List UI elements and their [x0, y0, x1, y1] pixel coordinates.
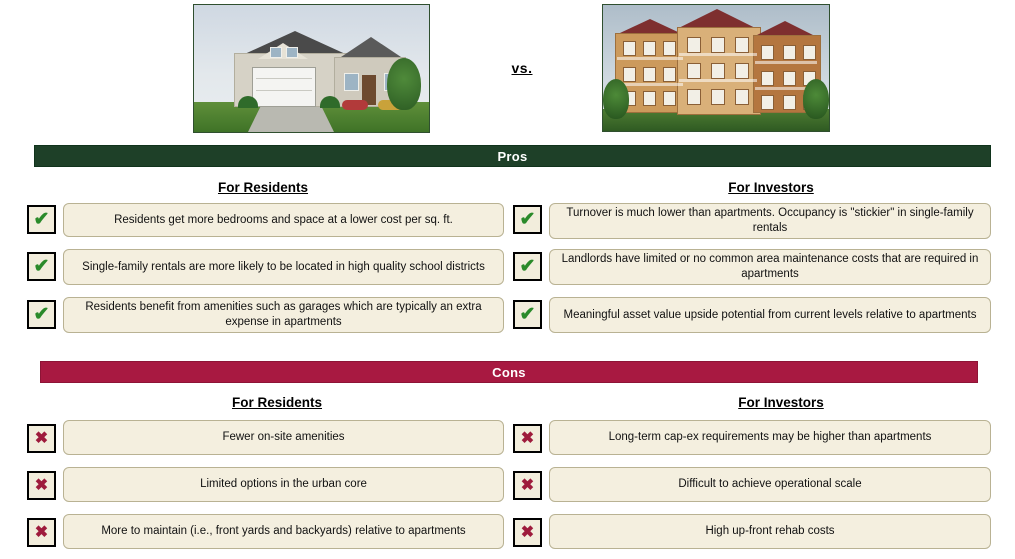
- window-icon: [344, 73, 359, 91]
- pros-residents-item: Residents benefit from amenities such as…: [63, 297, 504, 333]
- pros-investors-heading: For Investors: [668, 180, 874, 195]
- window-icon: [711, 63, 725, 79]
- check-icon: ✔: [513, 205, 542, 234]
- window-icon: [623, 41, 636, 56]
- balcony-rail: [755, 61, 817, 64]
- window-icon: [761, 45, 774, 60]
- cons-investors-item: High up-front rehab costs: [549, 514, 991, 549]
- pros-banner: Pros: [34, 145, 991, 167]
- balcony-rail: [617, 83, 683, 86]
- flower-bed: [342, 100, 368, 110]
- versus-label: vs.: [497, 60, 547, 76]
- cons-investors-heading: For Investors: [678, 395, 884, 410]
- cons-residents-item-text: More to maintain (i.e., front yards and …: [72, 524, 495, 539]
- window-icon: [761, 71, 774, 86]
- pros-residents-item: Residents get more bedrooms and space at…: [63, 203, 504, 237]
- pros-residents-item-text: Residents get more bedrooms and space at…: [72, 213, 495, 228]
- cross-icon: ✖: [513, 424, 542, 453]
- window-icon: [663, 91, 676, 106]
- cons-investors-item-text: Difficult to achieve operational scale: [558, 477, 982, 492]
- window-icon: [783, 95, 796, 110]
- tree: [803, 79, 829, 119]
- driveway: [248, 104, 334, 132]
- window-icon: [687, 89, 701, 105]
- cons-residents-item-text: Fewer on-site amenities: [72, 430, 495, 445]
- pros-investors-item-text: Landlords have limited or no common area…: [558, 252, 982, 282]
- cross-icon: ✖: [27, 424, 56, 453]
- balcony-rail: [679, 53, 757, 56]
- cross-icon: ✖: [27, 518, 56, 547]
- pros-residents-item: Single-family rentals are more likely to…: [63, 249, 504, 285]
- cross-icon: ✖: [27, 471, 56, 500]
- pros-investors-item-text: Meaningful asset value upside potential …: [558, 308, 982, 323]
- cross-icon: ✖: [513, 471, 542, 500]
- pros-investors-item: Meaningful asset value upside potential …: [549, 297, 991, 333]
- comparison-image-row: vs.: [0, 0, 1015, 136]
- window-icon: [643, 67, 656, 82]
- garage-door: [252, 67, 316, 107]
- window-icon: [286, 47, 298, 58]
- cons-residents-item: More to maintain (i.e., front yards and …: [63, 514, 504, 549]
- window-icon: [643, 91, 656, 106]
- cons-investors-item-text: High up-front rehab costs: [558, 524, 982, 539]
- pros-investors-item-text: Turnover is much lower than apartments. …: [558, 206, 982, 236]
- pros-investors-item: Turnover is much lower than apartments. …: [549, 203, 991, 239]
- pros-residents-item-text: Single-family rentals are more likely to…: [72, 260, 495, 275]
- cons-banner: Cons: [40, 361, 978, 383]
- cons-residents-item: Fewer on-site amenities: [63, 420, 504, 455]
- pros-residents-heading: For Residents: [160, 180, 366, 195]
- window-icon: [783, 71, 796, 86]
- window-icon: [735, 63, 749, 79]
- window-icon: [663, 41, 676, 56]
- cons-investors-item: Long-term cap-ex requirements may be hig…: [549, 420, 991, 455]
- cons-investors-item: Difficult to achieve operational scale: [549, 467, 991, 502]
- balcony-rail: [617, 57, 683, 60]
- window-icon: [643, 41, 656, 56]
- check-icon: ✔: [513, 252, 542, 281]
- cross-icon: ✖: [513, 518, 542, 547]
- window-icon: [761, 95, 774, 110]
- window-icon: [783, 45, 796, 60]
- window-icon: [623, 67, 636, 82]
- cons-residents-heading: For Residents: [174, 395, 380, 410]
- window-icon: [735, 89, 749, 105]
- tree: [603, 79, 629, 119]
- apartment-building-photo: [602, 4, 830, 132]
- pros-investors-item: Landlords have limited or no common area…: [549, 249, 991, 285]
- window-icon: [663, 67, 676, 82]
- check-icon: ✔: [27, 252, 56, 281]
- check-icon: ✔: [27, 300, 56, 329]
- window-icon: [735, 37, 749, 53]
- window-icon: [687, 63, 701, 79]
- window-icon: [270, 47, 282, 58]
- cons-investors-item-text: Long-term cap-ex requirements may be hig…: [558, 430, 982, 445]
- cons-residents-item: Limited options in the urban core: [63, 467, 504, 502]
- balcony-rail: [679, 79, 757, 82]
- window-icon: [803, 45, 816, 60]
- check-icon: ✔: [513, 300, 542, 329]
- cons-residents-item-text: Limited options in the urban core: [72, 477, 495, 492]
- single-family-home-photo: [193, 4, 430, 133]
- tree: [387, 58, 421, 110]
- window-icon: [687, 37, 701, 53]
- check-icon: ✔: [27, 205, 56, 234]
- pros-residents-item-text: Residents benefit from amenities such as…: [72, 300, 495, 330]
- window-icon: [711, 37, 725, 53]
- window-icon: [711, 89, 725, 105]
